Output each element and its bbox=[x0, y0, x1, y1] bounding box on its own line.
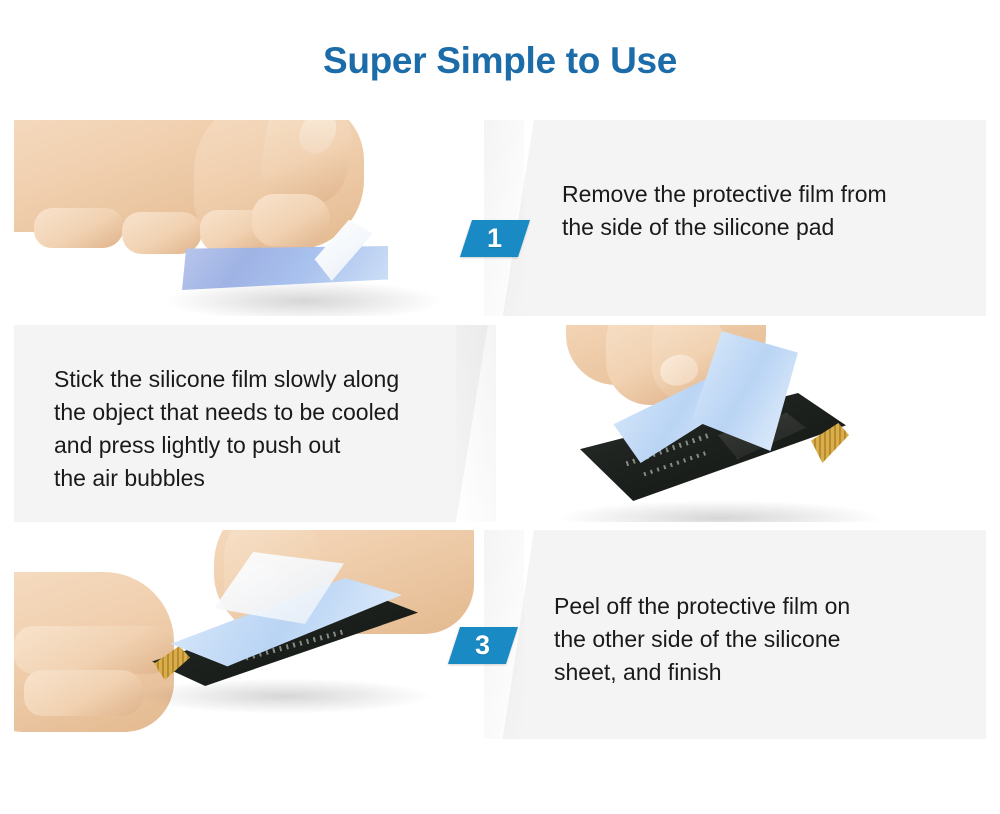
step-3-number: 3 bbox=[475, 632, 490, 659]
step-3-text: Peel off the protective film on the othe… bbox=[554, 590, 954, 689]
step-1-text: Remove the protective film from the side… bbox=[562, 178, 982, 244]
step-row-3: 3 Peel off the protective film on the ot… bbox=[14, 530, 986, 739]
steps-container: 1 Remove the protective film from the si… bbox=[0, 120, 1000, 760]
step-row-1: 1 Remove the protective film from the si… bbox=[14, 120, 986, 316]
header: Super Simple to Use bbox=[0, 0, 1000, 120]
step-1-photo bbox=[14, 120, 534, 316]
page-title: Super Simple to Use bbox=[323, 42, 677, 79]
step-1-badge: 1 bbox=[460, 220, 530, 257]
step-2-text: Stick the silicone film slowly along the… bbox=[54, 363, 494, 495]
step-3-photo bbox=[14, 530, 534, 739]
step-3-badge: 3 bbox=[448, 627, 518, 664]
step-row-2: Stick the silicone film slowly along the… bbox=[14, 325, 986, 522]
step-2-photo: SAMSUNG bbox=[456, 325, 986, 522]
step-1-number: 1 bbox=[487, 225, 502, 252]
